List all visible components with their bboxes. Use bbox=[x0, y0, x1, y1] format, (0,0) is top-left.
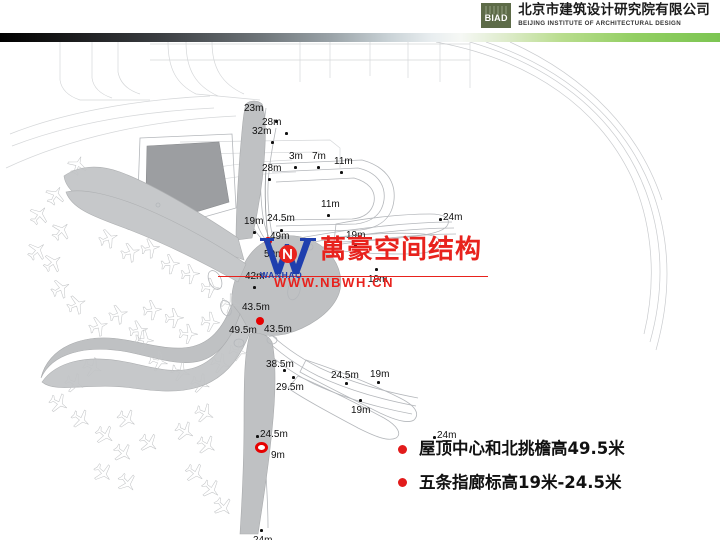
dim-label: 23m bbox=[244, 104, 263, 114]
dim-point bbox=[359, 399, 362, 402]
bullet-text: 屋顶中心和北挑檐高49.5米 bbox=[419, 441, 625, 458]
bullet-text: 五条指廊标高19米-24.5米 bbox=[419, 475, 622, 492]
dim-point bbox=[271, 141, 274, 144]
dim-label: 50m bbox=[264, 250, 283, 260]
dim-label: 11m bbox=[334, 157, 353, 167]
dim-label: 24.5m bbox=[267, 214, 295, 224]
dim-point bbox=[439, 218, 442, 221]
dim-label: 42m bbox=[245, 272, 264, 282]
dim-label: 19m bbox=[346, 231, 365, 241]
dim-point bbox=[375, 268, 378, 271]
biad-brand: BIAD 北京市建筑设计研究院有限公司 BEIJING INSTITUTE OF… bbox=[481, 3, 710, 28]
dim-point bbox=[260, 529, 263, 532]
dim-point bbox=[317, 166, 320, 169]
dim-label: 29.5m bbox=[276, 383, 304, 393]
dim-label: 49m bbox=[270, 232, 289, 242]
marker-roof-center bbox=[264, 237, 272, 245]
dim-point bbox=[377, 381, 380, 384]
header-gradient-bar bbox=[0, 33, 720, 42]
dim-label: 32m bbox=[252, 127, 271, 137]
dim-label: 19m bbox=[370, 370, 389, 380]
brand-text-block: 北京市建筑设计研究院有限公司 BEIJING INSTITUTE OF ARCH… bbox=[518, 4, 710, 27]
dim-label: 24.5m bbox=[260, 430, 288, 440]
dim-label: 49.5m bbox=[229, 326, 257, 336]
dim-label: 19m bbox=[368, 275, 387, 285]
slide-canvas: BIAD 北京市建筑设计研究院有限公司 BEIJING INSTITUTE OF… bbox=[0, 0, 720, 540]
dim-point bbox=[340, 171, 343, 174]
dim-label: 9m bbox=[271, 451, 285, 461]
company-name-cn: 北京市建筑设计研究院有限公司 bbox=[518, 4, 710, 18]
dim-point bbox=[292, 376, 295, 379]
dim-point bbox=[268, 178, 271, 181]
list-item: 五条指廊标高19米-24.5米 bbox=[398, 475, 698, 492]
dim-label: 3m bbox=[289, 152, 303, 162]
dim-label: 11m bbox=[321, 200, 340, 210]
dim-point bbox=[256, 435, 259, 438]
dim-label: 7m bbox=[312, 152, 326, 162]
dim-point bbox=[354, 244, 357, 247]
dim-point bbox=[285, 132, 288, 135]
dim-label: 38.5m bbox=[266, 360, 294, 370]
dim-label: 43.5m bbox=[264, 325, 292, 335]
company-name-en: BEIJING INSTITUTE OF ARCHITECTURAL DESIG… bbox=[518, 21, 710, 27]
dim-point bbox=[253, 286, 256, 289]
page-header: BIAD 北京市建筑设计研究院有限公司 BEIJING INSTITUTE OF… bbox=[0, 0, 720, 33]
dim-point bbox=[327, 214, 330, 217]
dim-label: 19m bbox=[351, 406, 370, 416]
dim-point bbox=[294, 166, 297, 169]
bullet-dot-icon bbox=[398, 445, 407, 454]
bullet-dot-icon bbox=[398, 478, 407, 487]
dim-point bbox=[345, 382, 348, 385]
dim-label: 28m bbox=[262, 164, 281, 174]
list-item: 屋顶中心和北挑檐高49.5米 bbox=[398, 441, 698, 458]
biad-logo-text: BIAD bbox=[481, 14, 511, 23]
callout-list: 屋顶中心和北挑檐高49.5米 五条指廊标高19米-24.5米 bbox=[398, 441, 698, 508]
dim-label: 24m bbox=[253, 536, 272, 540]
dim-label: 19m bbox=[244, 217, 263, 227]
dim-point bbox=[283, 369, 286, 372]
marker-south-low bbox=[255, 442, 268, 453]
dim-label: 24.5m bbox=[331, 371, 359, 381]
marker-north-eave bbox=[256, 317, 264, 325]
biad-logo-icon: BIAD bbox=[481, 3, 511, 28]
dim-label: 24m bbox=[443, 213, 462, 223]
dim-label: 43.5m bbox=[242, 303, 270, 313]
dim-point bbox=[253, 231, 256, 234]
